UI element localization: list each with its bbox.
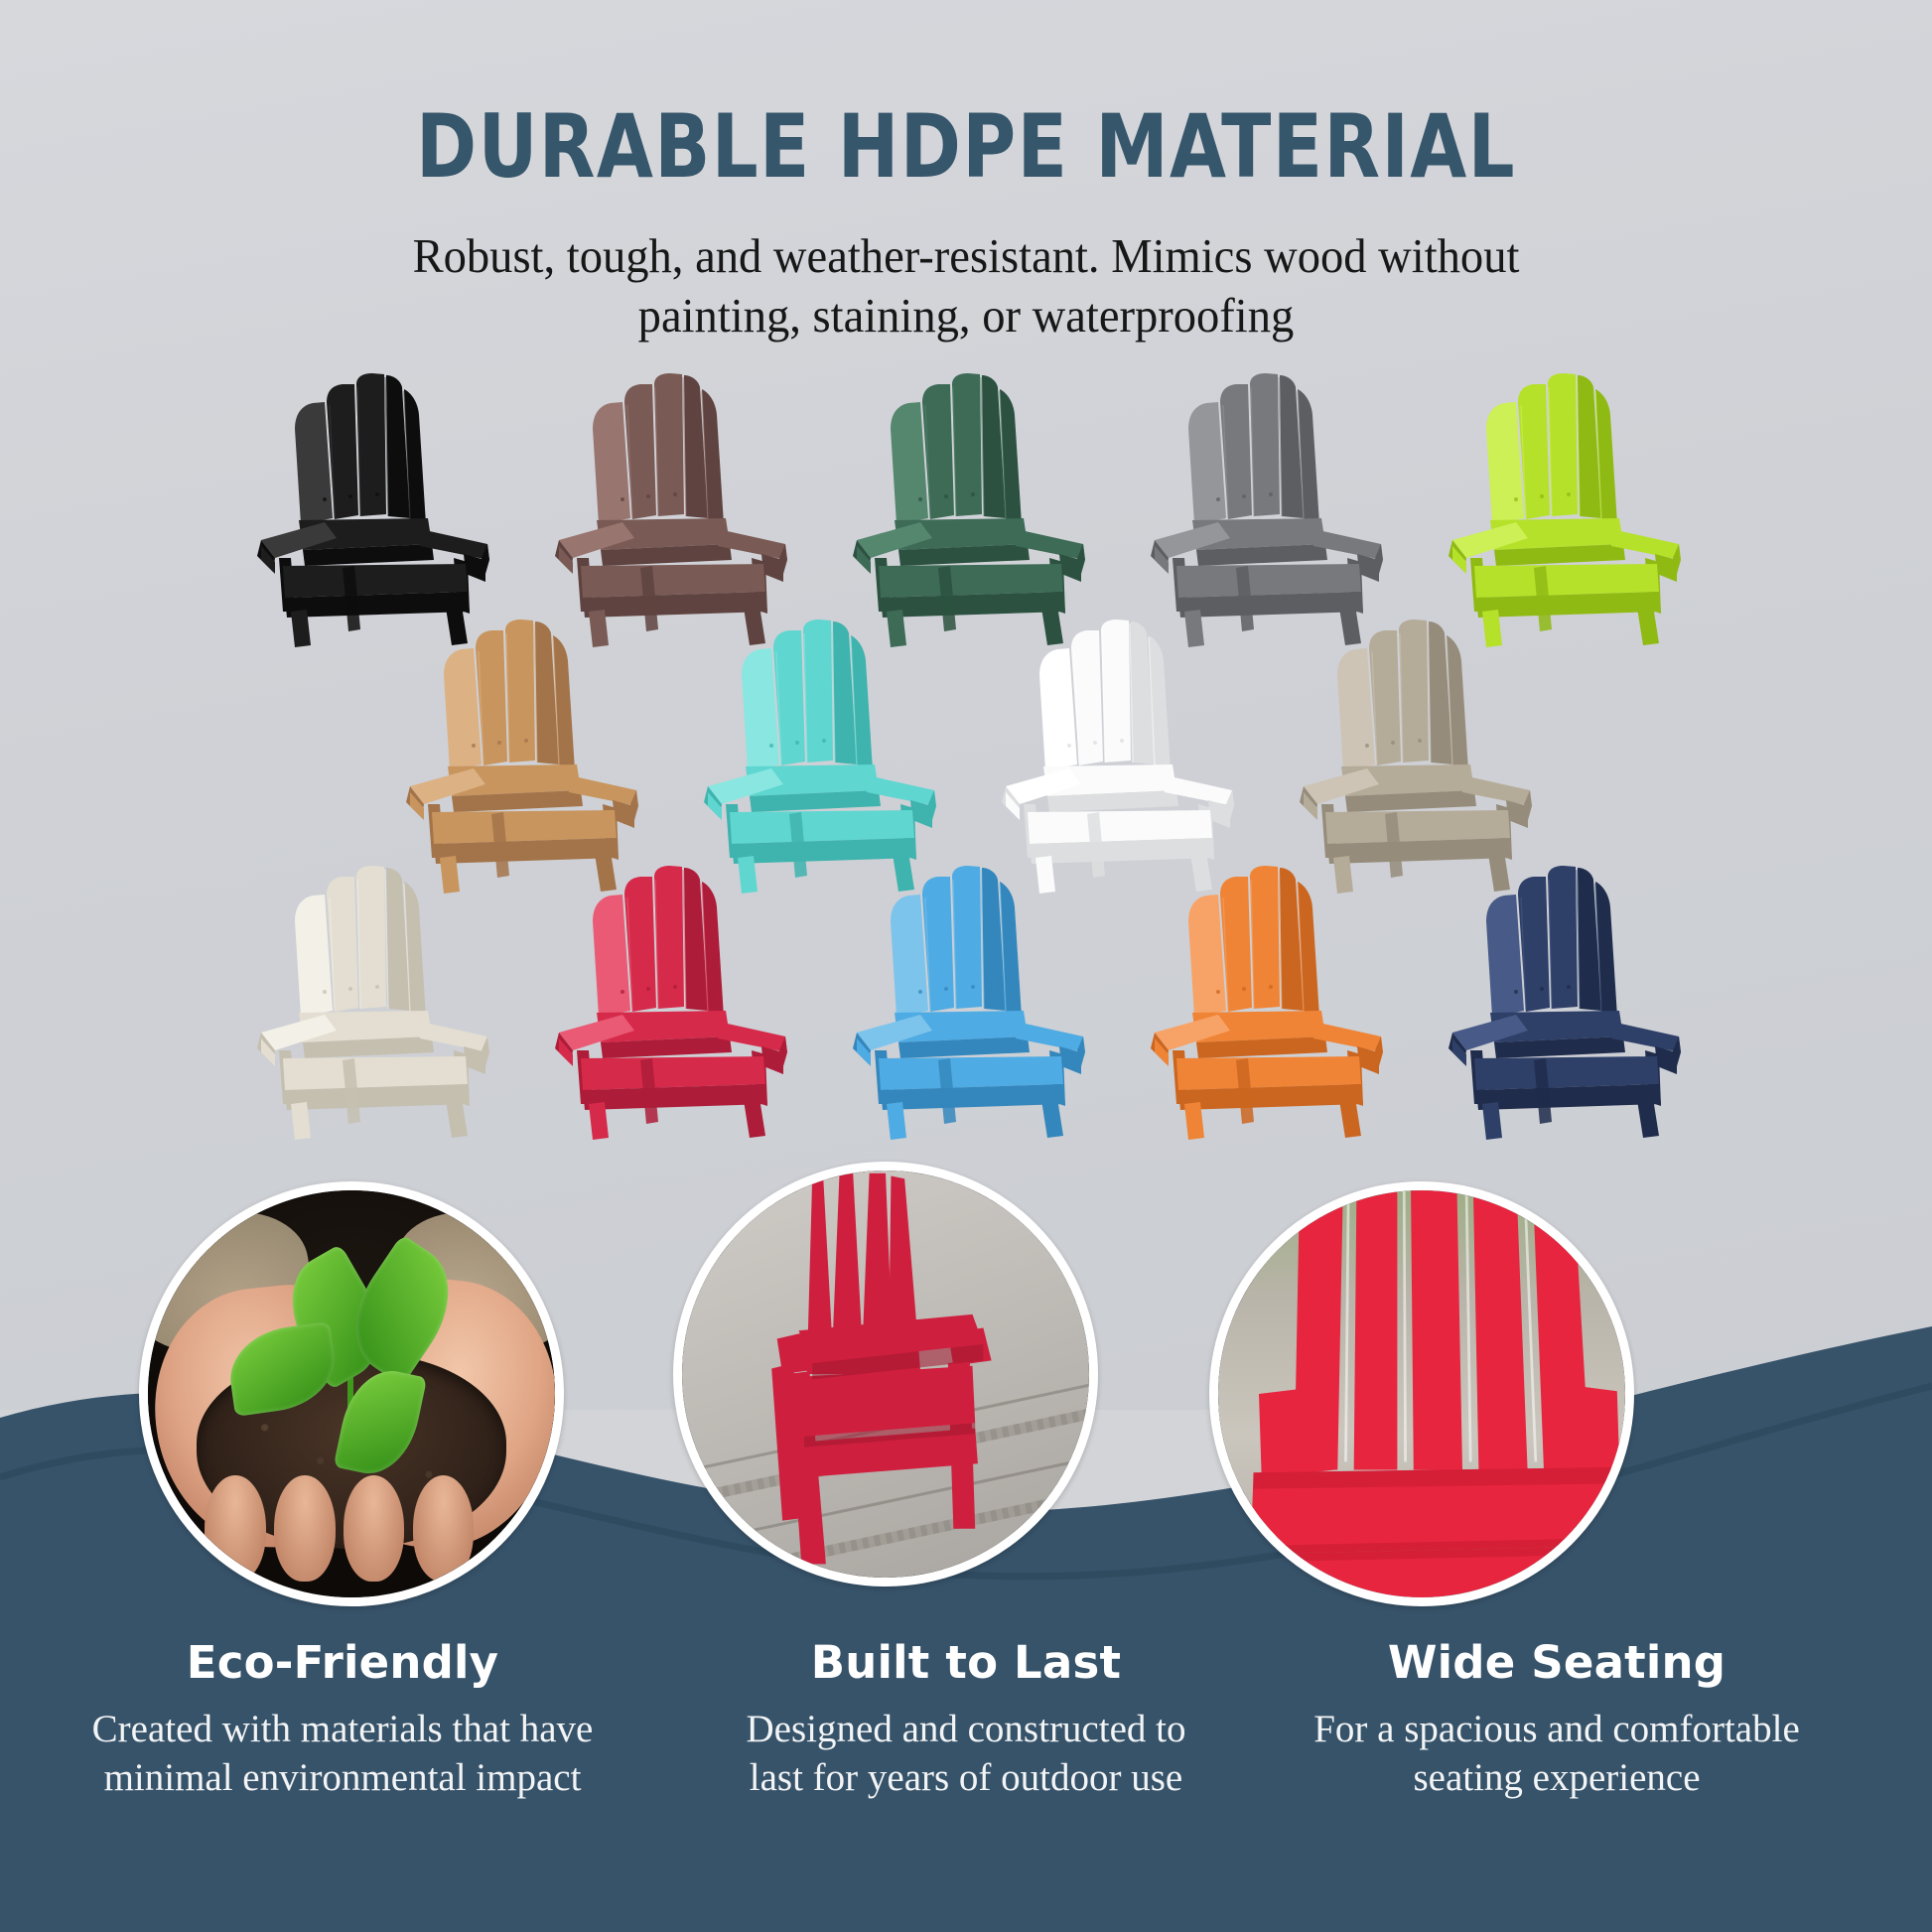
chair-swatch-white[interactable] — [966, 616, 1264, 894]
chair-image — [817, 862, 1115, 1140]
feature-text-wide-seating: Wide Seating For a spacious and comforta… — [1249, 1636, 1864, 1802]
chair-image — [1413, 862, 1711, 1140]
chair-image — [221, 862, 519, 1140]
patio-chair-illustration — [682, 1171, 1089, 1578]
chair-swatch-ivory[interactable] — [221, 862, 519, 1140]
infographic-canvas: DURABLE HDPE MATERIAL Robust, tough, and… — [0, 0, 1932, 1932]
chair-swatch-taupe[interactable] — [1264, 616, 1562, 894]
chair-swatch-red[interactable] — [519, 862, 817, 1140]
feature-heading: Eco-Friendly — [35, 1636, 650, 1689]
feature-heading: Built to Last — [658, 1636, 1274, 1689]
chair-image — [1115, 862, 1413, 1140]
adirondack-chair-illustration — [370, 616, 668, 894]
adirondack-chair-illustration — [966, 616, 1264, 894]
adirondack-chair-illustration — [221, 369, 519, 647]
adirondack-chair-illustration — [817, 369, 1115, 647]
adirondack-chair-illustration — [519, 862, 817, 1140]
chair-swatch-black[interactable] — [221, 369, 519, 647]
adirondack-chair-illustration — [1115, 862, 1413, 1140]
feature-body-line-1: Designed and constructed to — [658, 1705, 1274, 1753]
chair-color-row-2 — [0, 616, 1932, 894]
adirondack-chair-illustration — [519, 369, 817, 647]
footer-panel: Eco-Friendly Created with materials that… — [0, 1291, 1932, 1932]
adirondack-chair-illustration — [668, 616, 966, 894]
adirondack-chair-illustration — [817, 862, 1115, 1140]
feature-photo-built-to-last — [673, 1162, 1098, 1587]
chair-swatch-turquoise[interactable] — [668, 616, 966, 894]
chair-image — [966, 616, 1264, 894]
feature-body-line-2: minimal environmental impact — [35, 1753, 650, 1802]
chair-swatch-teak[interactable] — [370, 616, 668, 894]
adirondack-chair-illustration — [1115, 369, 1413, 647]
feature-body-line-2: seating experience — [1249, 1753, 1864, 1802]
wide-seat-chair-illustration — [1218, 1190, 1625, 1597]
feature-heading: Wide Seating — [1249, 1636, 1864, 1689]
adirondack-chair-illustration — [1264, 616, 1562, 894]
chair-swatch-orange[interactable] — [1115, 862, 1413, 1140]
chair-image — [519, 862, 817, 1140]
chair-color-row-3 — [0, 862, 1932, 1140]
feature-text-built-to-last: Built to Last Designed and constructed t… — [658, 1636, 1274, 1802]
chair-image — [1413, 369, 1711, 647]
chair-swatch-lime-green[interactable] — [1413, 369, 1711, 647]
adirondack-chair-illustration — [221, 862, 519, 1140]
feature-body-line-1: For a spacious and comfortable — [1249, 1705, 1864, 1753]
chair-image — [1115, 369, 1413, 647]
chair-swatch-gray[interactable] — [1115, 369, 1413, 647]
subtitle-line-2: painting, staining, or waterproofing — [49, 286, 1884, 345]
chair-color-row-1 — [0, 369, 1932, 647]
adirondack-chair-illustration — [1413, 862, 1711, 1140]
chair-image — [817, 369, 1115, 647]
chair-image — [519, 369, 817, 647]
chair-swatch-dark-green[interactable] — [817, 369, 1115, 647]
chair-image — [370, 616, 668, 894]
chair-swatch-light-blue[interactable] — [817, 862, 1115, 1140]
page-subtitle: Robust, tough, and weather-resistant. Mi… — [49, 226, 1884, 345]
page-title: DURABLE HDPE MATERIAL — [68, 95, 1864, 198]
subtitle-line-1: Robust, tough, and weather-resistant. Mi… — [49, 226, 1884, 286]
feature-text-eco-friendly: Eco-Friendly Created with materials that… — [35, 1636, 650, 1802]
chair-swatch-navy-blue[interactable] — [1413, 862, 1711, 1140]
feature-photo-eco-friendly — [139, 1181, 564, 1606]
feature-body-line-1: Created with materials that have — [35, 1705, 650, 1753]
feature-body-line-2: last for years of outdoor use — [658, 1753, 1274, 1802]
chair-swatch-brown[interactable] — [519, 369, 817, 647]
chair-image — [668, 616, 966, 894]
chair-image — [221, 369, 519, 647]
adirondack-chair-illustration — [1413, 369, 1711, 647]
chair-image — [1264, 616, 1562, 894]
feature-photo-wide-seating — [1209, 1181, 1634, 1606]
